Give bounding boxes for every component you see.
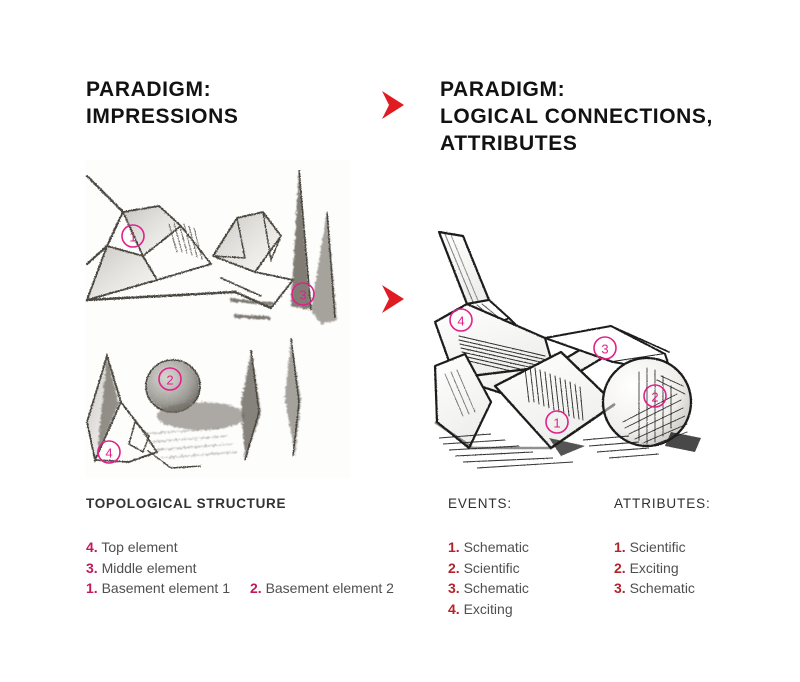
topological-item-list: 4. Top element 3. Middle element — [86, 537, 406, 578]
list-item: 1. Scientific — [614, 537, 784, 558]
list-item-label: Scientific — [464, 560, 520, 576]
list-item: 2. Scientific — [448, 558, 608, 579]
right-chevron-arrow-top — [380, 90, 406, 125]
svg-text:4: 4 — [105, 446, 112, 461]
list-item-number: 4. — [448, 601, 460, 617]
list-item-label: Exciting — [630, 560, 679, 576]
caption-heading-topological: TOPOLOGICAL STRUCTURE — [86, 496, 406, 511]
list-item-number: 4. — [86, 539, 98, 555]
list-item-label: Basement element 2 — [266, 580, 394, 596]
svg-text:2: 2 — [166, 373, 173, 388]
list-item-number: 3. — [86, 560, 98, 576]
list-item-number: 1. — [86, 580, 98, 596]
caption-heading-events: EVENTS: — [448, 496, 608, 511]
chevron-right-icon — [380, 284, 406, 314]
caption-heading-attributes: ATTRIBUTES: — [614, 496, 784, 511]
list-item-number: 2. — [614, 560, 626, 576]
list-item-label: Schematic — [464, 580, 529, 596]
list-item: 1. Schematic — [448, 537, 608, 558]
sketch-impressions: 1 3 2 4 — [85, 160, 350, 478]
list-item: 4. Top element — [86, 537, 406, 558]
svg-text:2: 2 — [651, 390, 658, 405]
list-item-number: 1. — [614, 539, 626, 555]
chevron-right-icon — [380, 90, 406, 120]
list-item-number: 1. — [448, 539, 460, 555]
topological-basement-row: 1. Basement element 1 2. Basement elemen… — [86, 578, 406, 599]
list-item: 4. Exciting — [448, 599, 608, 620]
svg-text:3: 3 — [299, 288, 306, 303]
list-item: 3. Schematic — [614, 578, 784, 599]
list-item-label: Top element — [101, 539, 177, 555]
caption-events: EVENTS: 1. Schematic 2. Scientific 3. Sc… — [448, 496, 608, 619]
list-item: 2. Basement element 2 — [250, 578, 394, 599]
page-title-left: PARADIGM: IMPRESSIONS — [86, 76, 238, 130]
list-item-number: 2. — [448, 560, 460, 576]
attributes-item-list: 1. Scientific 2. Exciting 3. Schematic — [614, 537, 784, 599]
list-item: 3. Middle element — [86, 558, 406, 579]
caption-topological-structure: TOPOLOGICAL STRUCTURE 4. Top element 3. … — [86, 496, 406, 599]
svg-text:3: 3 — [601, 342, 608, 357]
sketch-logical-connections: 4 3 2 1 — [433, 226, 703, 482]
svg-text:1: 1 — [129, 230, 136, 245]
list-item: 1. Basement element 1 — [86, 578, 230, 599]
slide-canvas: PARADIGM: IMPRESSIONS PARADIGM: LOGICAL … — [0, 0, 800, 682]
list-item-number: 3. — [448, 580, 460, 596]
list-item-label: Middle element — [102, 560, 197, 576]
list-item-label: Scientific — [630, 539, 686, 555]
list-item-label: Exciting — [464, 601, 513, 617]
list-item-number: 2. — [250, 580, 262, 596]
list-item: 3. Schematic — [448, 578, 608, 599]
svg-text:4: 4 — [457, 314, 464, 329]
list-item-label: Schematic — [464, 539, 529, 555]
page-title-right: PARADIGM: LOGICAL CONNECTIONS, ATTRIBUTE… — [440, 76, 713, 157]
events-item-list: 1. Schematic 2. Scientific 3. Schematic … — [448, 537, 608, 619]
caption-attributes: ATTRIBUTES: 1. Scientific 2. Exciting 3.… — [614, 496, 784, 599]
list-item-number: 3. — [614, 580, 626, 596]
list-item-label: Basement element 1 — [102, 580, 230, 596]
list-item-label: Schematic — [630, 580, 695, 596]
svg-text:1: 1 — [553, 416, 560, 431]
list-item: 2. Exciting — [614, 558, 784, 579]
right-chevron-arrow-middle — [380, 284, 406, 319]
